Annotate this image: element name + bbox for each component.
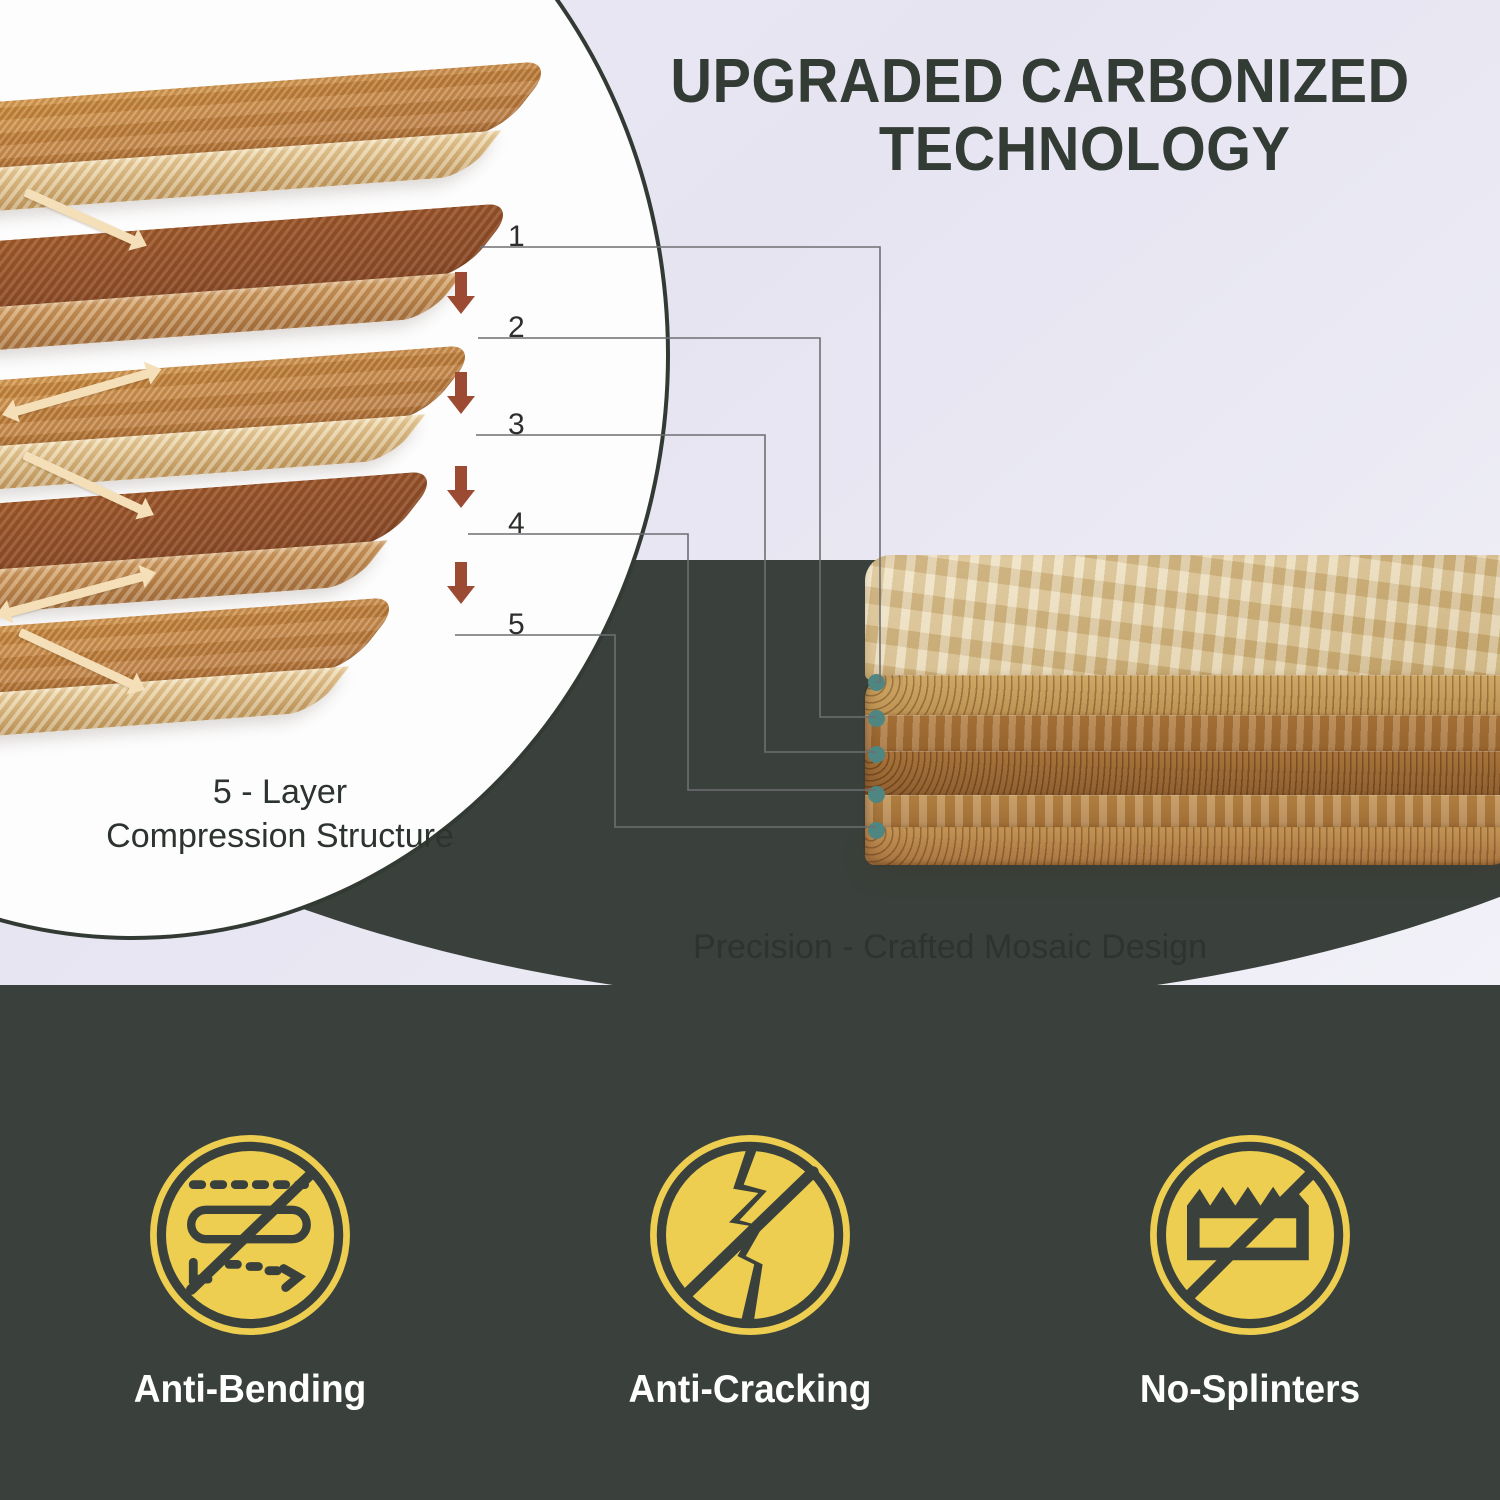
layer-number-5: 5: [508, 608, 525, 642]
feature-label-anti-cracking: Anti-Cracking: [551, 1368, 950, 1412]
layer-number-2: 2: [508, 311, 525, 345]
no-cracking-icon: [645, 1130, 855, 1340]
feature-label-anti-bending: Anti-Bending: [51, 1368, 450, 1412]
features-row: Anti-Bending Anti-Cracking: [0, 1130, 1500, 1412]
features-band: Anti-Bending Anti-Cracking: [0, 985, 1500, 1500]
feature-anti-bending: Anti-Bending: [40, 1130, 460, 1412]
left-caption-line-1: 5 - Layer: [10, 770, 550, 814]
feature-label-no-splinters: No-Splinters: [1051, 1368, 1450, 1412]
feature-anti-cracking: Anti-Cracking: [540, 1130, 960, 1412]
layer-number-1: 1: [508, 220, 525, 254]
feature-no-splinters: No-Splinters: [1040, 1130, 1460, 1412]
leader-path-2: [478, 338, 876, 717]
layer-number-4: 4: [508, 507, 525, 541]
no-bending-icon: [145, 1130, 355, 1340]
product-infographic: UPGRADED CARBONIZED TECHNOLOGY: [0, 0, 1500, 1500]
top-panel: UPGRADED CARBONIZED TECHNOLOGY: [0, 0, 1500, 990]
left-caption: 5 - Layer Compression Structure: [10, 770, 550, 858]
layer-number-3: 3: [508, 408, 525, 442]
right-caption: Precision - Crafted Mosaic Design: [600, 925, 1300, 969]
no-splinters-icon: [1145, 1130, 1355, 1340]
leader-path-3: [476, 435, 876, 752]
left-caption-line-2: Compression Structure: [10, 814, 550, 858]
